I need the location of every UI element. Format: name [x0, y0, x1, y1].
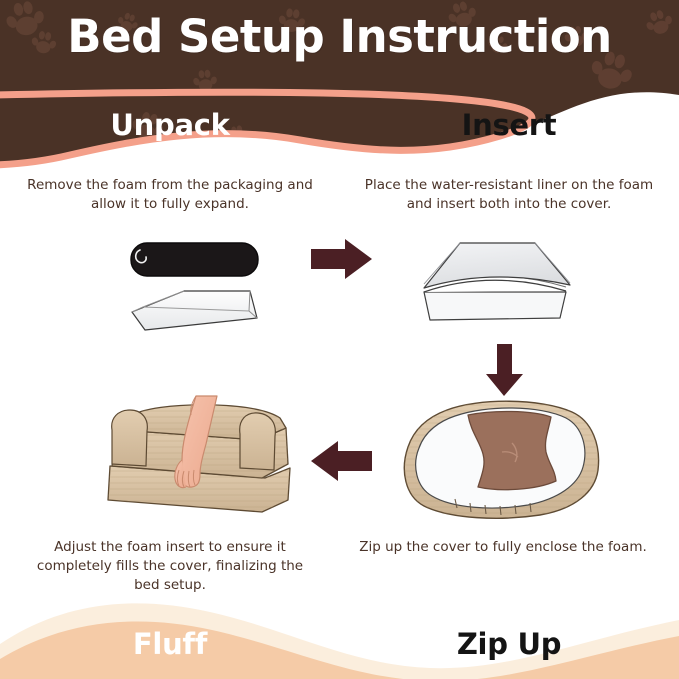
step-description-insert: Place the water-resistant liner on the f… [357, 176, 661, 214]
arrow-insert-to-zipup [486, 344, 523, 396]
liner-sheet-icon [132, 291, 257, 330]
zipped-bed-illustration [404, 401, 598, 518]
step-heading-unpack: Unpack [0, 108, 340, 142]
step-heading-zipup: Zip Up [339, 627, 679, 661]
rolled-foam-icon [131, 243, 258, 276]
arrow-unpack-to-insert [311, 239, 372, 279]
foam-in-cover-illustration [424, 243, 570, 320]
step-description-fluff: Adjust the foam insert to ensure it comp… [24, 538, 316, 595]
bed-setup-instruction-infographic: Bed Setup Instruction Unpack Insert Zip … [0, 0, 679, 679]
page-title: Bed Setup Instruction [0, 10, 679, 63]
hand-fluffing-bed-illustration [108, 396, 290, 512]
rolled-foam-and-liner-illustration [131, 243, 258, 330]
arrow-zipup-to-fluff [311, 441, 372, 481]
step-heading-fluff: Fluff [0, 627, 340, 661]
step-description-zipup: Zip up the cover to fully enclose the fo… [357, 538, 649, 557]
step-description-unpack: Remove the foam from the packaging and a… [18, 176, 322, 214]
step-heading-insert: Insert [339, 108, 679, 142]
